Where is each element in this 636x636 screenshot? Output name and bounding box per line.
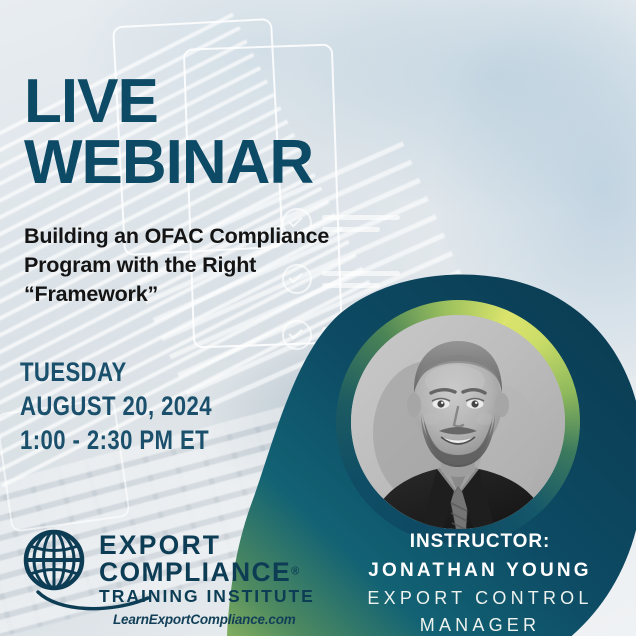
instructor-name: JONATHAN YOUNG [330,557,630,585]
instructor-portrait [351,315,565,529]
schedule-time: 1:00 - 2:30 PM ET [20,424,212,458]
instructor-block: INSTRUCTOR: JONATHAN YOUNG EXPORT CONTRO… [330,530,630,636]
webinar-title: Building an OFAC Compliance Program with… [24,222,354,308]
schedule-block: TUESDAY AUGUST 20, 2024 1:00 - 2:30 PM E… [20,356,212,457]
instructor-role-line-2: MANAGER [330,613,630,636]
headline-line-1: LIVE [24,67,158,136]
eti-logo: EXPORT COMPLIANCE® TRAINING INSTITUTE Le… [22,528,315,627]
logo-line-compliance: COMPLIANCE [99,559,291,586]
instructor-label: INSTRUCTOR: [330,530,630,554]
registered-trademark-icon: ® [291,566,299,578]
checklist-line [322,215,400,220]
logo-line-export: EXPORT [99,533,315,559]
headline-line-2: WEBINAR [24,133,313,194]
schedule-day: TUESDAY [20,356,212,390]
globe-icon [22,528,90,606]
instructor-role-line-1: EXPORT CONTROL [330,586,630,610]
webinar-promo-poster: LIVE WEBINAR Building an OFAC Compliance… [0,0,636,636]
headline: LIVE WEBINAR [24,72,313,194]
schedule-date: AUGUST 20, 2024 [20,390,212,424]
